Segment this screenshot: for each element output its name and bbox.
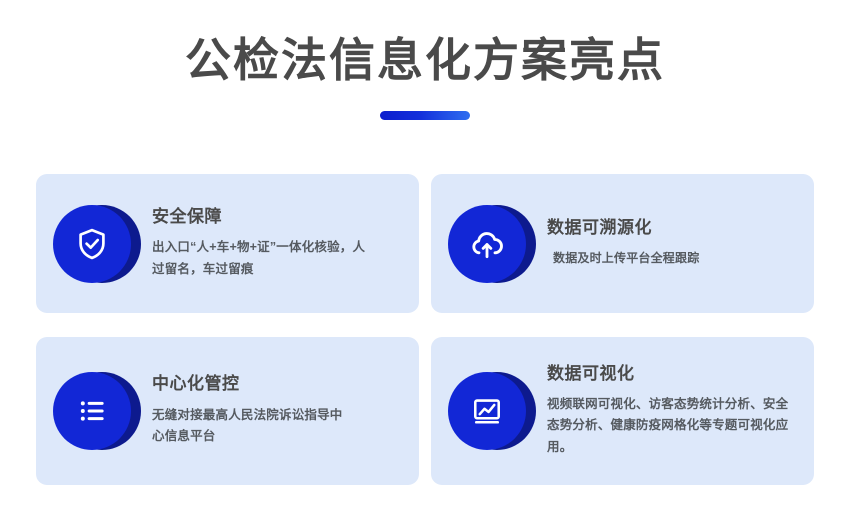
chart-monitor-icon — [468, 392, 506, 430]
icon-circle — [448, 372, 526, 450]
feature-card-data-traceability[interactable]: 数据可溯源化 数据及时上传平台全程跟踪 — [431, 174, 814, 313]
card-title: 数据可视化 — [547, 364, 796, 384]
icon-badge — [50, 198, 142, 290]
icon-circle — [448, 205, 526, 283]
card-text: 中心化管控 无缝对接最高人民法院诉讼指导中心信息平台 — [152, 374, 401, 447]
icon-circle — [53, 205, 131, 283]
card-text: 安全保障 出入口“人+车+物+证”一体化核验，人过留名，车过留痕 — [152, 207, 401, 280]
page-header: 公检法信息化方案亮点 — [0, 0, 850, 120]
feature-card-data-visualization[interactable]: 数据可视化 视频联网可视化、访客态势统计分析、安全态势分析、健康防疫网格化等专题… — [431, 337, 814, 485]
feature-card-grid: 安全保障 出入口“人+车+物+证”一体化核验，人过留名，车过留痕 — [36, 174, 814, 485]
feature-highlights-page: 公检法信息化方案亮点 安全保障 出入口“人+车+物+证”一体化核 — [0, 0, 850, 516]
bulleted-list-icon — [73, 392, 111, 430]
icon-circle — [53, 372, 131, 450]
card-text: 数据可溯源化 数据及时上传平台全程跟踪 — [547, 218, 796, 269]
icon-badge — [50, 365, 142, 457]
shield-check-icon — [73, 225, 111, 263]
card-description: 数据及时上传平台全程跟踪 — [547, 248, 796, 269]
icon-badge — [445, 198, 537, 290]
card-title: 安全保障 — [152, 207, 401, 227]
feature-card-security[interactable]: 安全保障 出入口“人+车+物+证”一体化核验，人过留名，车过留痕 — [36, 174, 419, 313]
feature-card-centralized-control[interactable]: 中心化管控 无缝对接最高人民法院诉讼指导中心信息平台 — [36, 337, 419, 485]
card-description: 无缝对接最高人民法院诉讼指导中心信息平台 — [152, 405, 352, 448]
card-title: 中心化管控 — [152, 374, 401, 394]
card-description: 出入口“人+车+物+证”一体化核验，人过留名，车过留痕 — [152, 237, 367, 280]
title-underline-accent — [380, 111, 470, 120]
card-title: 数据可溯源化 — [547, 218, 796, 238]
icon-badge — [445, 365, 537, 457]
page-title: 公检法信息化方案亮点 — [0, 34, 850, 87]
card-text: 数据可视化 视频联网可视化、访客态势统计分析、安全态势分析、健康防疫网格化等专题… — [547, 364, 796, 459]
cloud-upload-icon — [467, 224, 507, 264]
card-description: 视频联网可视化、访客态势统计分析、安全态势分析、健康防疫网格化等专题可视化应用。 — [547, 394, 796, 459]
